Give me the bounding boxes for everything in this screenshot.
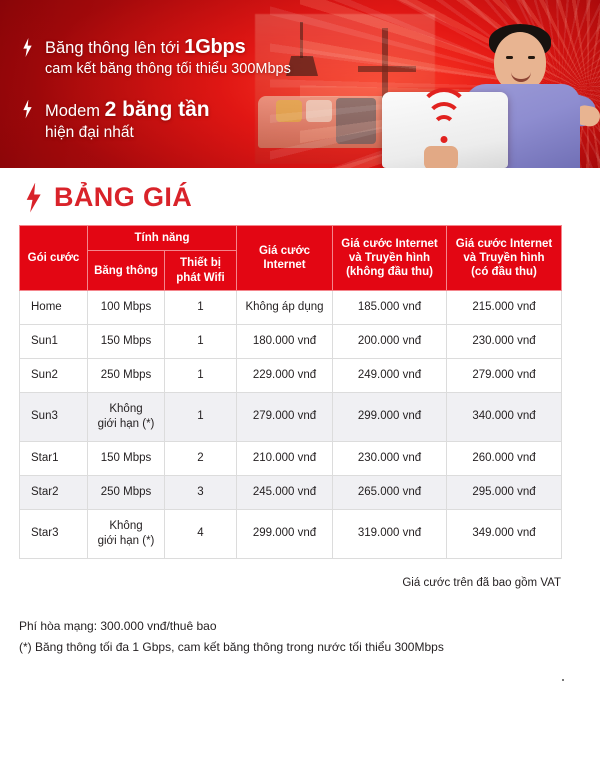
col-header-tv-box-line1: Giá cước Internet xyxy=(450,237,558,251)
table-row: Star1150 Mbps2210.000 vnđ230.000 vnđ260.… xyxy=(20,441,562,475)
col-header-internet-price-line1: Giá cước xyxy=(240,244,329,258)
cell-package: Sun1 xyxy=(20,325,88,359)
cell-bandwidth: Khônggiới hạn (*) xyxy=(88,392,165,441)
cell-internet-price: 229.000 vnđ xyxy=(237,359,333,393)
banner-bullet-item: Modem 2 băng tần hiện đại nhất xyxy=(22,96,322,144)
cell-package: Star2 xyxy=(20,475,88,509)
page-title: BẢNG GIÁ xyxy=(54,182,192,213)
cell-wifi-device: 1 xyxy=(165,291,237,325)
cell-wifi-device: 1 xyxy=(165,359,237,393)
table-row: Sun3Khônggiới hạn (*)1279.000 vnđ299.000… xyxy=(20,392,562,441)
hero-banner: Băng thông lên tới 1Gbps cam kết băng th… xyxy=(0,0,600,168)
cell-internet-price: 279.000 vnđ xyxy=(237,392,333,441)
cell-tv-box: 340.000 vnđ xyxy=(447,392,562,441)
cell-wifi-device: 1 xyxy=(165,392,237,441)
cell-package: Sun2 xyxy=(20,359,88,393)
eye-decoration xyxy=(506,56,513,59)
table-row: Sun1150 Mbps1180.000 vnđ200.000 vnđ230.0… xyxy=(20,325,562,359)
person-with-laptop-photo xyxy=(388,18,588,168)
col-header-tv-no-box-line1: Giá cước Internet xyxy=(336,237,443,251)
section-title-row: BẢNG GIÁ xyxy=(19,182,581,213)
col-header-tv-box-line3: (có đầu thu) xyxy=(450,265,558,279)
col-header-tv-box-line2: và Truyền hình xyxy=(450,251,558,265)
col-header-internet-price: Giá cước Internet xyxy=(237,226,333,291)
asterisk-note: (*) Băng thông tối đa 1 Gbps, cam kết bă… xyxy=(19,637,581,658)
cell-wifi-device: 1 xyxy=(165,325,237,359)
lightning-bolt-icon xyxy=(22,38,33,57)
cell-internet-price: 180.000 vnđ xyxy=(237,325,333,359)
col-header-tv-no-box-line3: (không đầu thu) xyxy=(336,265,443,279)
wifi-icon xyxy=(420,110,468,144)
cell-tv-no-box: 299.000 vnđ xyxy=(333,392,447,441)
banner-bullet-2-subtext: hiện đại nhất xyxy=(45,123,210,143)
cell-package: Star3 xyxy=(20,509,88,558)
col-header-tv-no-box-line2: và Truyền hình xyxy=(336,251,443,265)
col-header-package: Gói cước xyxy=(20,226,88,291)
cell-package: Sun3 xyxy=(20,392,88,441)
cell-wifi-device: 4 xyxy=(165,509,237,558)
cell-wifi-device: 2 xyxy=(165,441,237,475)
holding-hand-decoration xyxy=(424,146,458,168)
cell-tv-no-box: 230.000 vnđ xyxy=(333,441,447,475)
cell-tv-no-box: 185.000 vnđ xyxy=(333,291,447,325)
banner-bullet-2-prefix: Modem xyxy=(45,102,105,120)
col-header-features-group: Tính năng xyxy=(88,226,237,251)
cell-tv-box: 295.000 vnđ xyxy=(447,475,562,509)
cell-tv-no-box: 265.000 vnđ xyxy=(333,475,447,509)
eye-decoration xyxy=(528,56,535,59)
col-header-bandwidth: Băng thông xyxy=(88,251,165,291)
cell-internet-price: Không áp dụng xyxy=(237,291,333,325)
banner-bullet-2-highlight: 2 băng tần xyxy=(105,98,210,121)
price-section: BẢNG GIÁ Gói cước Tính năng Giá cước Int… xyxy=(0,182,600,658)
cell-tv-box: 215.000 vnđ xyxy=(447,291,562,325)
table-row: Sun2250 Mbps1229.000 vnđ249.000 vnđ279.0… xyxy=(20,359,562,393)
face-decoration xyxy=(494,32,546,92)
banner-bullet-1-prefix: Băng thông lên tới xyxy=(45,39,184,57)
cell-package: Star1 xyxy=(20,441,88,475)
footer-notes: Phí hòa mạng: 300.000 vnđ/thuê bao (*) B… xyxy=(19,616,581,658)
cell-tv-no-box: 249.000 vnđ xyxy=(333,359,447,393)
banner-bullet-1-highlight: 1Gbps xyxy=(184,36,245,58)
price-table-head: Gói cước Tính năng Giá cước Internet Giá… xyxy=(20,226,562,291)
cell-internet-price: 299.000 vnđ xyxy=(237,509,333,558)
lightning-bolt-icon xyxy=(25,183,42,213)
cell-wifi-device: 3 xyxy=(165,475,237,509)
col-header-tv-no-box: Giá cước Internet và Truyền hình (không … xyxy=(333,226,447,291)
price-table: Gói cước Tính năng Giá cước Internet Giá… xyxy=(19,225,562,559)
cell-bandwidth: 150 Mbps xyxy=(88,441,165,475)
cell-tv-box: 230.000 vnđ xyxy=(447,325,562,359)
col-header-tv-box: Giá cước Internet và Truyền hình (có đầu… xyxy=(447,226,562,291)
vat-note: Giá cước trên đã bao gồm VAT xyxy=(19,577,563,589)
banner-bullet-item: Băng thông lên tới 1Gbps cam kết băng th… xyxy=(22,34,322,80)
col-header-internet-price-line2: Internet xyxy=(240,258,329,272)
install-fee-note: Phí hòa mạng: 300.000 vnđ/thuê bao xyxy=(19,616,581,637)
cell-tv-box: 349.000 vnđ xyxy=(447,509,562,558)
cell-internet-price: 210.000 vnđ xyxy=(237,441,333,475)
cell-bandwidth: 150 Mbps xyxy=(88,325,165,359)
cell-bandwidth: Khônggiới hạn (*) xyxy=(88,509,165,558)
price-table-body: Home100 Mbps1Không áp dụng185.000 vnđ215… xyxy=(20,291,562,558)
banner-bullet-list: Băng thông lên tới 1Gbps cam kết băng th… xyxy=(22,34,322,160)
cell-internet-price: 245.000 vnđ xyxy=(237,475,333,509)
table-row: Star3Khônggiới hạn (*)4299.000 vnđ319.00… xyxy=(20,509,562,558)
cell-bandwidth: 250 Mbps xyxy=(88,359,165,393)
cell-tv-box: 279.000 vnđ xyxy=(447,359,562,393)
cell-tv-no-box: 319.000 vnđ xyxy=(333,509,447,558)
lightning-bolt-icon xyxy=(22,100,33,119)
stray-dot-artifact xyxy=(562,679,564,681)
table-row: Home100 Mbps1Không áp dụng185.000 vnđ215… xyxy=(20,291,562,325)
cell-bandwidth: 100 Mbps xyxy=(88,291,165,325)
cell-tv-box: 260.000 vnđ xyxy=(447,441,562,475)
cell-tv-no-box: 200.000 vnđ xyxy=(333,325,447,359)
cell-bandwidth: 250 Mbps xyxy=(88,475,165,509)
cell-package: Home xyxy=(20,291,88,325)
col-header-wifi-device: Thiết bịphát Wifi xyxy=(165,251,237,291)
table-header-row: Gói cước Tính năng Giá cước Internet Giá… xyxy=(20,226,562,251)
table-row: Star2250 Mbps3245.000 vnđ265.000 vnđ295.… xyxy=(20,475,562,509)
banner-bullet-1-subtext: cam kết băng thông tối thiểu 300Mbps xyxy=(45,60,291,79)
